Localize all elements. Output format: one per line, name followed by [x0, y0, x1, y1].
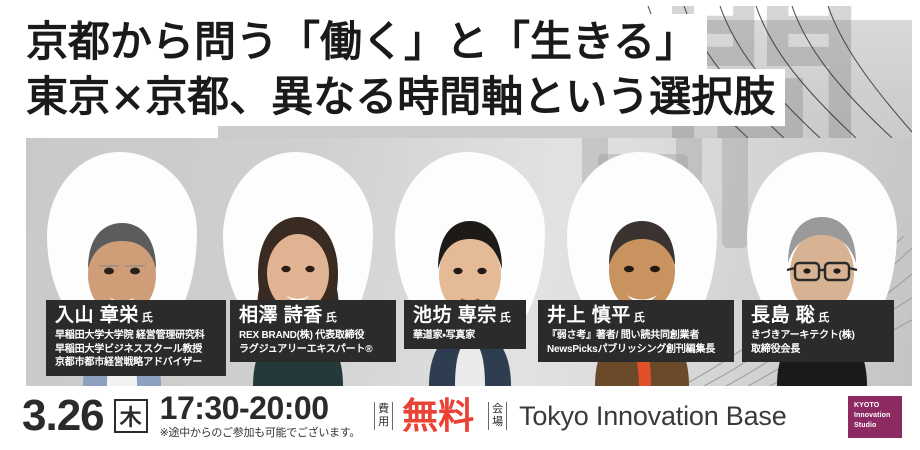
- speaker-title-line: 華道家・写真家: [413, 329, 517, 343]
- speaker-name: 入山 章栄氏: [55, 305, 217, 329]
- speaker-nameplate: 長島 聡氏 きづきアーキテクト(株) 取締役会長: [742, 300, 894, 362]
- speaker-title-line: 早稲田大学大学院 経営管理研究科: [55, 329, 217, 343]
- event-time-block: 17:30-20:00 ※途中からのご参加も可能でございます。: [160, 392, 360, 440]
- speaker-nameplate: 井上 慎平氏 『弱さ考』著者/ 問い読共同創業者 NewsPicksパブリッシン…: [538, 300, 734, 362]
- event-time-note: ※途中からのご参加も可能でございます。: [160, 426, 360, 440]
- fee-value: 無料: [402, 398, 474, 434]
- event-date: 3.26: [22, 394, 104, 438]
- logo-line-3: Studio: [854, 421, 897, 431]
- speakers-strip: 入山 章栄氏 早稲田大学大学院 経営管理研究科 早稲田大学ビジネススクール教授 …: [26, 138, 912, 386]
- speaker-title-line: ラグジュアリーエキスパート®: [239, 343, 387, 357]
- speaker-name: 井上 慎平氏: [547, 305, 725, 329]
- venue-label-char-top: 会: [492, 403, 503, 416]
- speaker-title-line: 取締役会長: [751, 343, 885, 357]
- fee-label-char-top: 費: [378, 403, 389, 416]
- speaker-portrait: [395, 171, 545, 386]
- speaker-title-line: きづきアーキテクト(株): [751, 329, 885, 343]
- speaker-name: 相澤 詩香氏: [239, 305, 387, 329]
- speaker-nameplate: 池坊 専宗氏 華道家・写真家: [404, 300, 526, 349]
- venue-value: Tokyo Innovation Base: [519, 401, 786, 431]
- banner-canvas: 問 京都から問う「働く」と「生きる」 東京×京都、異なる時間軸という選択肢: [8, 6, 912, 444]
- venue-label-char-bottom: 場: [492, 416, 503, 429]
- speaker-title-line: NewsPicksパブリッシング創刊編集長: [547, 343, 725, 357]
- speaker-title-line: REX BRAND(株) 代表取締役: [239, 329, 387, 343]
- fee-label: 費 用: [374, 402, 393, 430]
- headline-section: 問 京都から問う「働く」と「生きる」 東京×京都、異なる時間軸という選択肢: [8, 6, 912, 138]
- speaker-title-line: 京都市都市経営戦略アドバイザー: [55, 356, 217, 370]
- event-day-of-week: 木: [114, 399, 148, 433]
- speaker-nameplate: 入山 章栄氏 早稲田大学大学院 経営管理研究科 早稲田大学ビジネススクール教授 …: [46, 300, 226, 376]
- speaker-name-suffix: 氏: [326, 312, 338, 324]
- speaker-name: 長島 聡氏: [751, 305, 885, 329]
- speaker-title-line: 早稲田大学ビジネススクール教授: [55, 343, 217, 357]
- speaker-name-suffix: 氏: [818, 312, 830, 324]
- headline-line-1: 京都から問う「働く」と「生きる」: [22, 14, 707, 71]
- speaker-name-suffix: 氏: [634, 312, 646, 324]
- headline-line-2: 東京×京都、異なる時間軸という選択肢: [22, 69, 785, 126]
- speaker-nameplate: 相澤 詩香氏 REX BRAND(株) 代表取締役 ラグジュアリーエキスパート®: [230, 300, 396, 362]
- speaker-card: [390, 138, 550, 386]
- logo-line-2: Innovation: [854, 411, 897, 421]
- speaker-name-suffix: 氏: [500, 312, 512, 324]
- kyoto-innovation-studio-logo: KYOTO Innovation Studio: [848, 396, 902, 438]
- speaker-title-line: 『弱さ考』著者/ 問い読共同創業者: [547, 329, 725, 343]
- event-banner: 問 京都から問う「働く」と「生きる」 東京×京都、異なる時間軸という選択肢: [0, 0, 920, 450]
- speaker-name-suffix: 氏: [142, 312, 154, 324]
- footer-bar: 3.26 木 17:30-20:00 ※途中からのご参加も可能でございます。 費…: [8, 388, 912, 444]
- fee-label-char-bottom: 用: [378, 416, 389, 429]
- speaker-name: 池坊 専宗氏: [413, 305, 517, 329]
- venue-label: 会 場: [488, 402, 507, 430]
- event-time: 17:30-20:00: [160, 392, 360, 425]
- logo-line-1: KYOTO: [854, 401, 897, 411]
